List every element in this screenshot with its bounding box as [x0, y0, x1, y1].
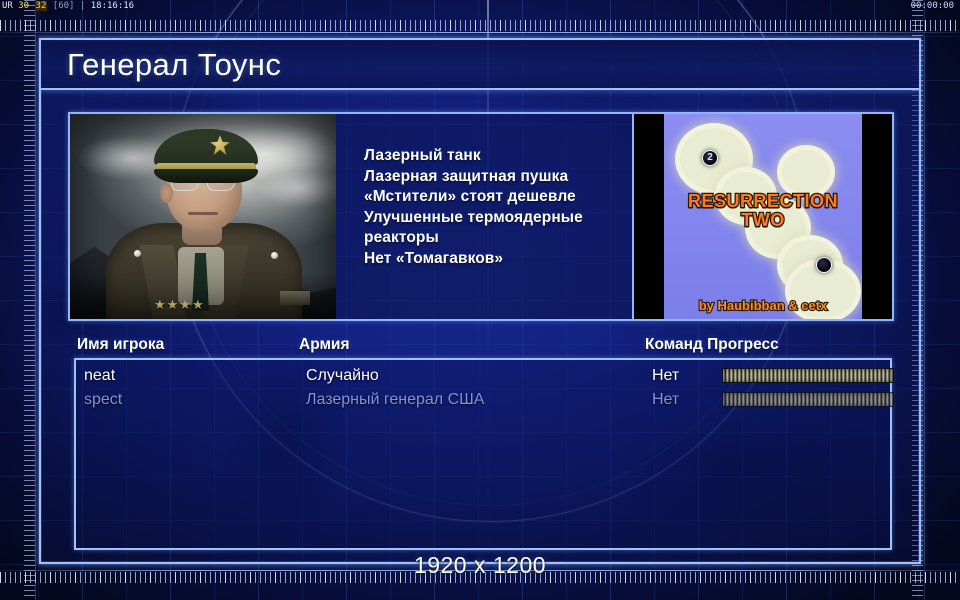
player-army: Случайно [306, 364, 379, 388]
mouth [188, 212, 218, 215]
progress-bar [722, 392, 894, 407]
rank-stars-icon: ★★★★ [154, 299, 230, 311]
status-bar-right: 00:00:00 [911, 1, 954, 11]
loading-screen: UR 30 32 [60] | 18:16:16 00:00:00 Генера… [0, 0, 960, 600]
guide-line-right [924, 0, 925, 600]
military-cap-visor [154, 169, 258, 183]
status-fps-alt: 32 [35, 1, 48, 11]
ruler-left [24, 0, 35, 600]
player-name: spect [84, 388, 122, 412]
guide-line-left [35, 0, 36, 600]
map-title-line2: TWO [664, 211, 862, 230]
match-timer: 00:00:00 [911, 1, 954, 11]
player-list: neat Случайно Нет spect Лазерный генерал… [74, 358, 892, 550]
map-author: by Haubibban & cetx [664, 298, 862, 313]
column-header-progress: Команд Прогресс [645, 336, 779, 354]
shoulder-pin-icon [134, 250, 141, 257]
main-frame: Генерал Тоунс ★★★★ [39, 38, 921, 564]
player-army: Лазерный генерал США [306, 388, 484, 412]
list-item: Лазерный танк [364, 146, 632, 167]
medal-ribbon-icon [280, 291, 310, 305]
status-bar-left: UR 30 32 [60] | 18:16:16 [2, 1, 134, 11]
player-team: Нет [652, 364, 679, 388]
general-info-panel: ★★★★ [68, 112, 894, 321]
general-bonus-list: Лазерный танк Лазерная защитная пушка «М… [336, 114, 632, 319]
ruler-top [0, 20, 960, 31]
list-item: Улучшенные термоядерные [364, 208, 632, 229]
status-clock: 18:16:16 [91, 1, 134, 11]
column-header-army: Армия [299, 336, 350, 354]
player-table-header: Имя игрока Армия Команд Прогресс [77, 336, 889, 358]
player-team: Нет [652, 388, 679, 412]
status-fps: 30 [18, 1, 29, 11]
progress-bar [722, 368, 894, 383]
map-spawn-point [816, 257, 832, 273]
map-title-line1: RESURRECTION [664, 192, 862, 211]
list-item: Лазерная защитная пушка [364, 167, 632, 188]
cloud-icon [250, 168, 336, 208]
map-terrain [782, 150, 830, 194]
map-preview: 2 RESURRECTION TWO by Haubibban & cetx [632, 114, 892, 319]
list-item: Нет «Томагавков» [364, 249, 632, 270]
status-fps-cap: [60] [53, 1, 75, 11]
map-title: RESURRECTION TWO [664, 192, 862, 230]
shoulder-pin-icon [271, 252, 278, 259]
list-item: «Мстители» стоят дешевле [364, 187, 632, 208]
table-row[interactable]: spect Лазерный генерал США Нет [76, 388, 890, 412]
column-header-name: Имя игрока [77, 336, 164, 354]
table-row[interactable]: neat Случайно Нет [76, 364, 890, 388]
divider-top [0, 32, 960, 33]
list-item: реакторы [364, 228, 632, 249]
map-image: 2 RESURRECTION TWO by Haubibban & cetx [664, 114, 862, 319]
general-portrait: ★★★★ [70, 114, 336, 319]
map-spawn-point: 2 [702, 150, 718, 166]
resolution-label: 1920 x 1200 [0, 552, 960, 579]
title-bar: Генерал Тоунс [41, 40, 919, 90]
page-title: Генерал Тоунс [41, 49, 281, 80]
status-label: UR [2, 1, 13, 11]
player-name: neat [84, 364, 115, 388]
